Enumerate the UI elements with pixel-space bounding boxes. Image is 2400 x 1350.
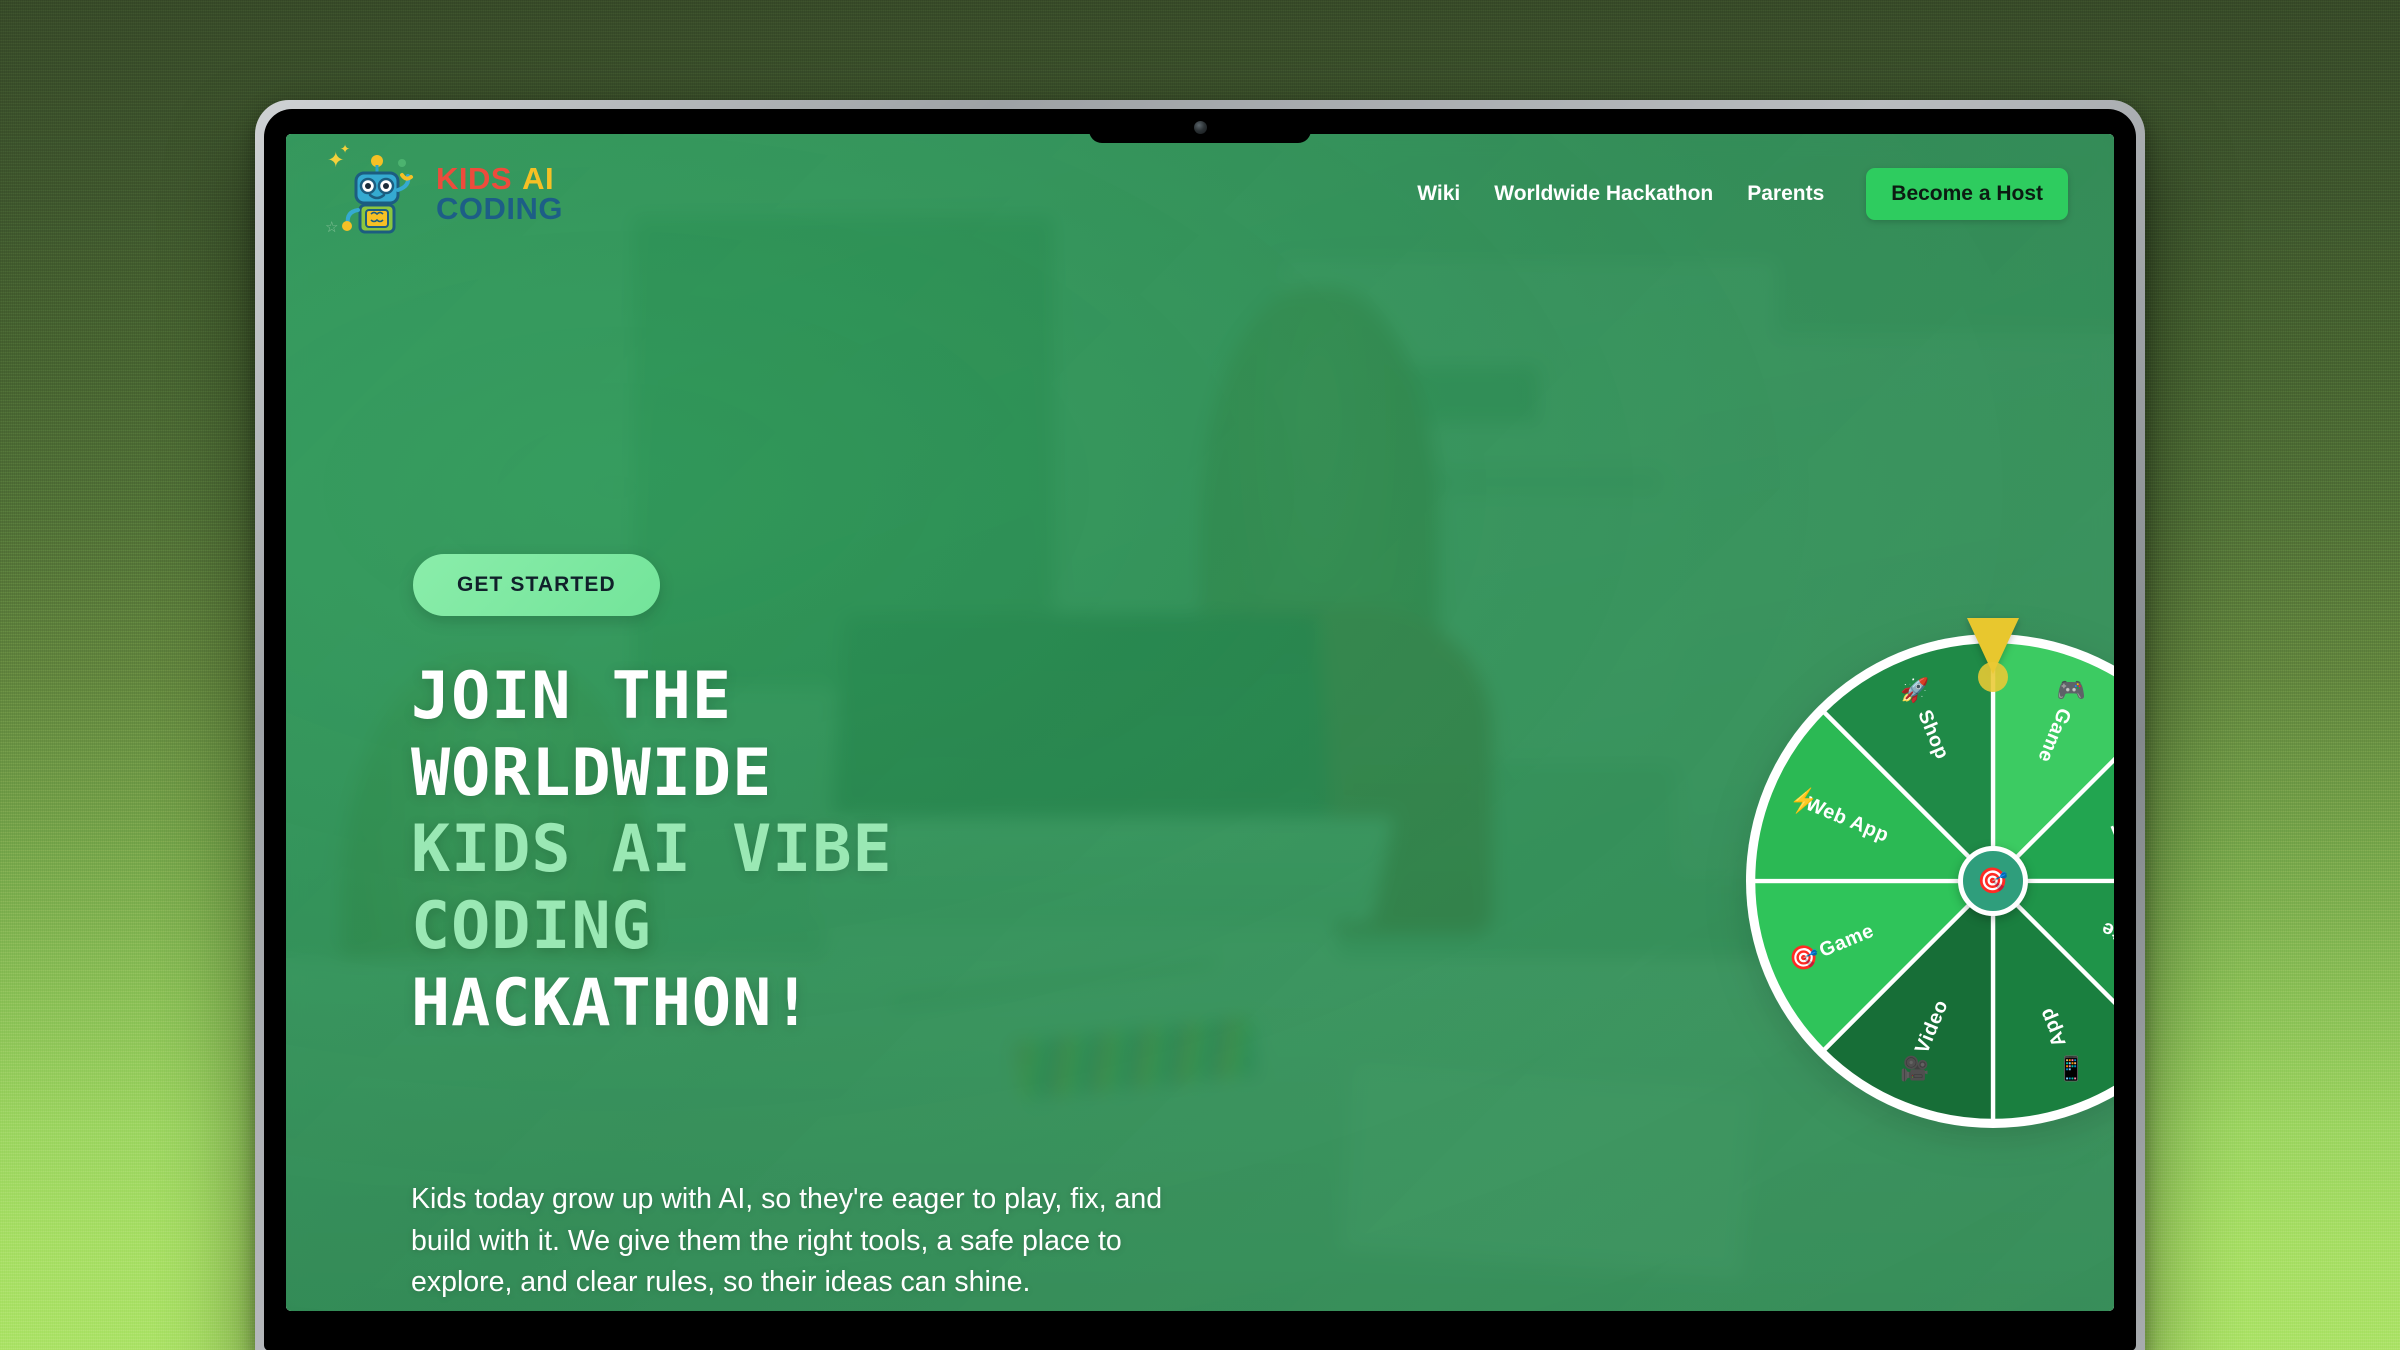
laptop-notch [1089,109,1311,143]
become-a-host-button[interactable]: Become a Host [1866,168,2068,220]
laptop-mockup: ✦ ✦ ☆ KIDSAI CODING Wiki Worldwide Hacka… [255,100,2145,1350]
primary-navigation: Wiki Worldwide Hackathon Parents Become … [1417,168,2068,220]
wheel-segments[interactable]: Game🎮Social💻Website🌐App📱Video🎥Game🎯Web A… [1746,634,2114,1128]
wheel-segment-emoji: 🎯 [1789,945,1818,971]
hero-paragraph: Kids today grow up with AI, so they're e… [411,1179,1211,1304]
page-title: JOIN THE WORLDWIDE KIDS AI VIBE CODING H… [411,659,893,1042]
wheel-disc[interactable]: Game🎮Social💻Website🌐App📱Video🎥Game🎯Web A… [1746,634,2114,1128]
nav-item-parents[interactable]: Parents [1747,182,1824,206]
site-logo[interactable]: ✦ ✦ ☆ KIDSAI CODING [336,148,563,240]
heading-line-1: JOIN THE [411,659,732,734]
hero-section: GET STARTED JOIN THE WORLDWIDE KIDS AI V… [286,134,1310,1311]
wheel-segment-emoji: ⚡ [1789,787,1818,815]
site-header: ✦ ✦ ☆ KIDSAI CODING Wiki Worldwide Hacka… [286,134,2114,254]
wheel-segment-emoji: 🎮 [2057,677,2086,703]
laptop-bezel: ✦ ✦ ☆ KIDSAI CODING Wiki Worldwide Hacka… [264,109,2136,1350]
heading-line-5: HACKATHON! [411,966,812,1041]
nav-item-wiki[interactable]: Wiki [1417,182,1460,206]
wheel-segment-emoji: 📱 [2057,1055,2086,1083]
heading-line-4: CODING [411,889,652,964]
wheel-segment-emoji: 🎥 [1900,1055,1929,1083]
website-screen: ✦ ✦ ☆ KIDSAI CODING Wiki Worldwide Hacka… [286,134,2114,1311]
wheel-segment-emoji: 🚀 [1900,676,1929,704]
robot-mascot-icon: ✦ ✦ ☆ [336,148,420,240]
logo-wordmark: KIDSAI CODING [436,164,563,224]
get-started-button[interactable]: GET STARTED [413,554,660,616]
wheel-pointer-knob [1978,662,2008,692]
heading-line-2: WORLDWIDE [411,736,772,811]
wheel-hub[interactable]: 🎯 [1958,846,2028,916]
spinner-wheel[interactable]: Game🎮Social💻Website🌐App📱Video🎥Game🎯Web A… [1728,596,2114,1126]
nav-item-worldwide-hackathon[interactable]: Worldwide Hackathon [1494,182,1713,206]
logo-coding-text: CODING [436,194,563,224]
heading-line-3: KIDS AI VIBE [411,812,893,887]
camera-icon [1194,121,1207,134]
